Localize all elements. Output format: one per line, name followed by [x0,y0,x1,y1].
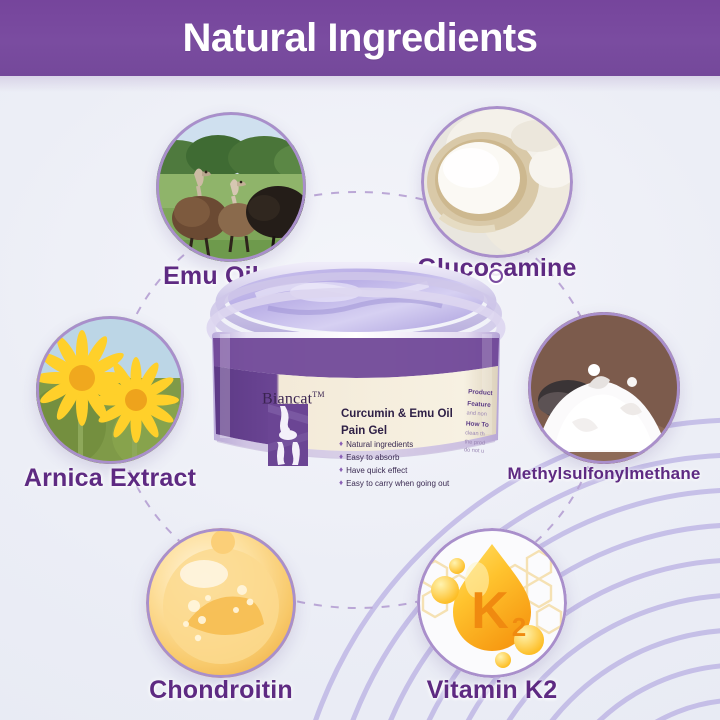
svg-text:2: 2 [512,612,526,642]
bullet-label: Easy to carry when going out [346,478,449,491]
ingredient-methylsulfonylmethane[interactable]: Methylsulfonylmethane [528,312,680,464]
bullet-label: Easy to absorb [346,452,399,465]
bullet-label: Natural ingredients [346,439,413,452]
label-side-panel-right: Product Feature and non How To clean tht… [464,386,517,458]
ingredient-vitamin-k2[interactable]: K 2 Vitamin K2 [417,528,567,678]
droplet-icon: ♦ [339,452,343,462]
list-item: ♦Easy to carry when going out [339,478,499,491]
ingredient-arnica-extract[interactable]: Arnica Extract [36,316,184,464]
ingredient-label-chondroitin: Chondroitin [91,676,351,705]
knee-joint-icon [268,404,308,466]
ingredient-image-vitamin-k2: K 2 [417,528,567,678]
droplet-icon: ♦ [339,465,343,475]
ingredient-emu-oil[interactable]: Emu Oil [156,112,306,262]
white-powder-in-wooden-bowl-photo [421,106,573,258]
ingredient-image-glucosamine [421,106,573,258]
page-title: Natural Ingredients [182,18,537,58]
ingredient-image-chondroitin [146,528,296,678]
droplet-icon: ♦ [339,439,343,449]
yellow-arnica-flowers-photo [36,316,184,464]
bullet-label: Have quick effect [346,465,407,478]
ingredient-glucosamine[interactable]: Glucosamine [421,106,573,258]
header-banner: Natural Ingredients [0,0,720,76]
droplet-icon: ♦ [339,478,343,488]
side-body-howto: clean ththe proddo not u [464,430,514,458]
infographic-canvas: Natural Ingredients [0,0,720,720]
list-item: ♦Have quick effect [339,465,499,478]
ingredient-image-emu-oil [156,112,306,262]
white-crystalline-powder-heap-photo [528,312,680,464]
ingredient-image-arnica-extract [36,316,184,464]
ingredient-image-methylsulfonylmethane [528,312,680,464]
banner-shadow [0,76,720,92]
ingredient-label-vitamin-k2: Vitamin K2 [362,676,622,705]
emus-in-grass-field-photo [156,112,306,262]
amber-gel-droplet-photo [146,528,296,678]
trademark-symbol: TM [312,390,324,399]
ingredient-chondroitin[interactable]: Chondroitin [146,528,296,678]
orange-vitamin-droplet-k2-icon: K 2 [417,528,567,678]
svg-text:K: K [471,582,509,640]
